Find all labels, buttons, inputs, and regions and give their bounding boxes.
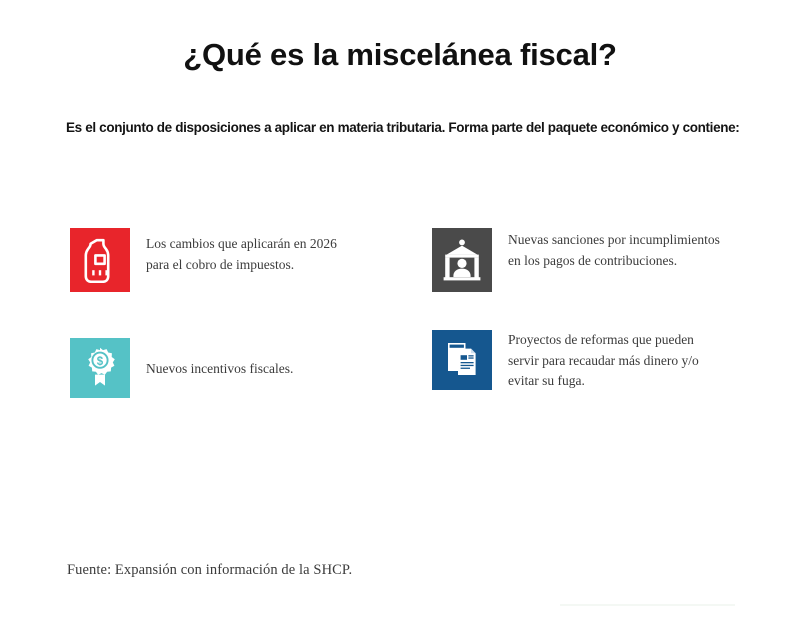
- list-item: Nuevas sanciones por incumplimientos en …: [432, 228, 723, 292]
- award-badge-dollar-icon: $: [79, 346, 121, 390]
- source-attribution: Fuente: Expansión con información de la …: [67, 562, 352, 579]
- list-item-label: Nuevas sanciones por incumplimientos en …: [508, 228, 723, 271]
- list-item-label: Nuevos incentivos fiscales.: [146, 338, 361, 380]
- list-item-label: Proyectos de reformas que pueden servir …: [508, 330, 723, 392]
- svg-text:$: $: [97, 356, 104, 368]
- decorative-rule: [560, 604, 735, 606]
- list-item-label: Los cambios que aplicarán en 2026 para e…: [146, 228, 361, 275]
- list-item: Los cambios que aplicarán en 2026 para e…: [70, 228, 361, 292]
- icon-tile-courthouse: [432, 228, 492, 292]
- icon-tile-soda-bottle: [70, 228, 130, 292]
- icon-tile-documents: [432, 330, 492, 390]
- documents-stack-icon: [441, 340, 483, 380]
- infographic-canvas: ¿Qué es la miscelánea fiscal? Es el conj…: [0, 0, 800, 625]
- icon-tile-award-badge: $: [70, 338, 130, 398]
- list-item: Proyectos de reformas que pueden servir …: [432, 330, 723, 392]
- list-item: $ Nuevos incentivos fiscales.: [70, 338, 361, 398]
- soda-bottle-icon: [80, 237, 120, 283]
- items-grid: Los cambios que aplicarán en 2026 para e…: [0, 0, 800, 625]
- courthouse-judge-icon: [441, 238, 483, 282]
